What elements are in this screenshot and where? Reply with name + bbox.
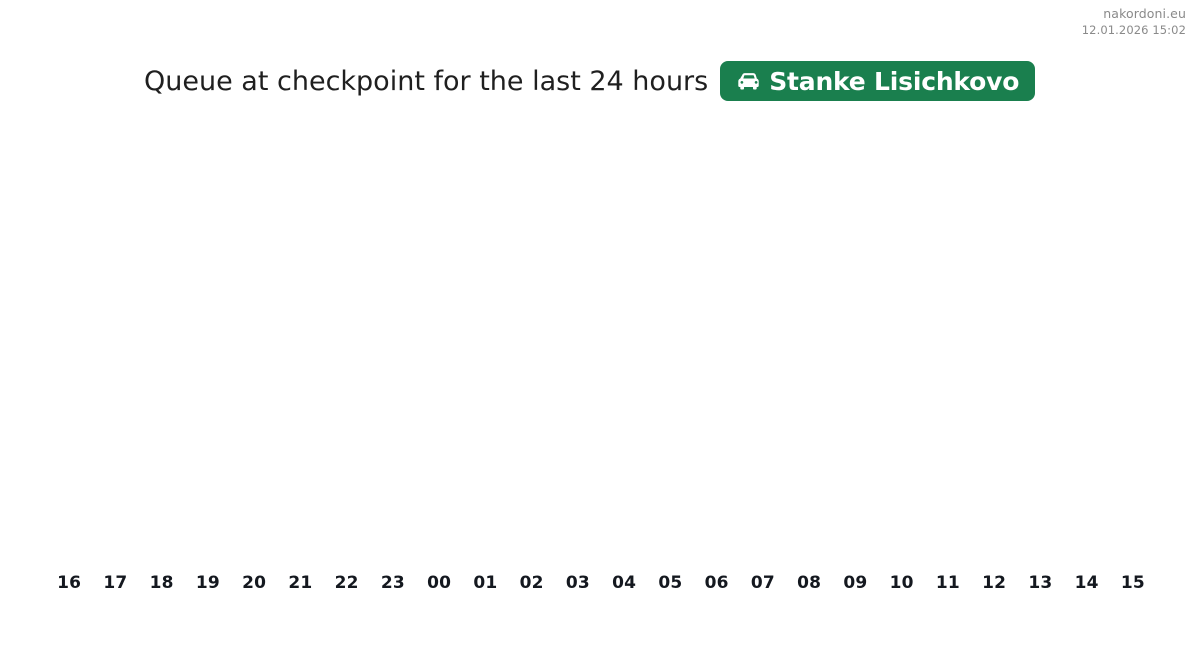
bar-slot (185, 112, 231, 562)
x-axis-tick: 15 (1110, 575, 1156, 592)
bar-slot (694, 112, 740, 562)
chart-plot-area (46, 112, 1156, 562)
x-axis-tick: 11 (925, 575, 971, 592)
station-name: Stanke Lisichkovo (769, 69, 1019, 94)
bar-slot (647, 112, 693, 562)
car-icon (736, 70, 762, 92)
bar-slot (277, 112, 323, 562)
bar-slot (324, 112, 370, 562)
x-axis-tick: 05 (647, 575, 693, 592)
bar-slot (555, 112, 601, 562)
page-meta: nakordoni.eu 12.01.2026 15:02 (1082, 6, 1186, 37)
x-axis-tick: 01 (462, 575, 508, 592)
x-axis-tick: 00 (416, 575, 462, 592)
x-axis-tick: 09 (832, 575, 878, 592)
x-axis-tick: 22 (324, 575, 370, 592)
x-axis-tick: 16 (46, 575, 92, 592)
bar-slot (786, 112, 832, 562)
bar-slot (139, 112, 185, 562)
bar-slot (462, 112, 508, 562)
x-axis-labels: 1617181920212223000102030405060708091011… (46, 570, 1156, 596)
bar-slot (879, 112, 925, 562)
bar-slot (509, 112, 555, 562)
x-axis-tick: 19 (185, 575, 231, 592)
x-axis-tick: 08 (786, 575, 832, 592)
x-axis-tick: 07 (740, 575, 786, 592)
x-axis-tick: 18 (139, 575, 185, 592)
bar-slot (416, 112, 462, 562)
x-axis-tick: 21 (277, 575, 323, 592)
bar-slot (370, 112, 416, 562)
bar-slot (740, 112, 786, 562)
x-axis-tick: 23 (370, 575, 416, 592)
bar-slot (971, 112, 1017, 562)
station-badge[interactable]: Stanke Lisichkovo (720, 61, 1035, 101)
bar-slot (925, 112, 971, 562)
site-name: nakordoni.eu (1082, 6, 1186, 22)
x-axis-tick: 13 (1017, 575, 1063, 592)
x-axis-tick: 04 (601, 575, 647, 592)
bar-slot (92, 112, 138, 562)
bar-slot (832, 112, 878, 562)
bar-slot (1017, 112, 1063, 562)
bar-series (46, 112, 1156, 562)
bar-slot (601, 112, 647, 562)
generated-timestamp: 12.01.2026 15:02 (1082, 23, 1186, 37)
x-axis-tick: 03 (555, 575, 601, 592)
x-axis-tick: 06 (694, 575, 740, 592)
x-axis-tick: 17 (92, 575, 138, 592)
x-axis-tick: 10 (879, 575, 925, 592)
chart-header: Queue at checkpoint for the last 24 hour… (144, 58, 1035, 104)
x-axis-tick: 14 (1064, 575, 1110, 592)
bar-slot (231, 112, 277, 562)
bar-slot (1064, 112, 1110, 562)
x-axis-tick: 12 (971, 575, 1017, 592)
x-axis-tick: 20 (231, 575, 277, 592)
page-title: Queue at checkpoint for the last 24 hour… (144, 68, 708, 95)
bar-slot (46, 112, 92, 562)
x-axis-tick: 02 (509, 575, 555, 592)
bar-slot (1110, 112, 1156, 562)
